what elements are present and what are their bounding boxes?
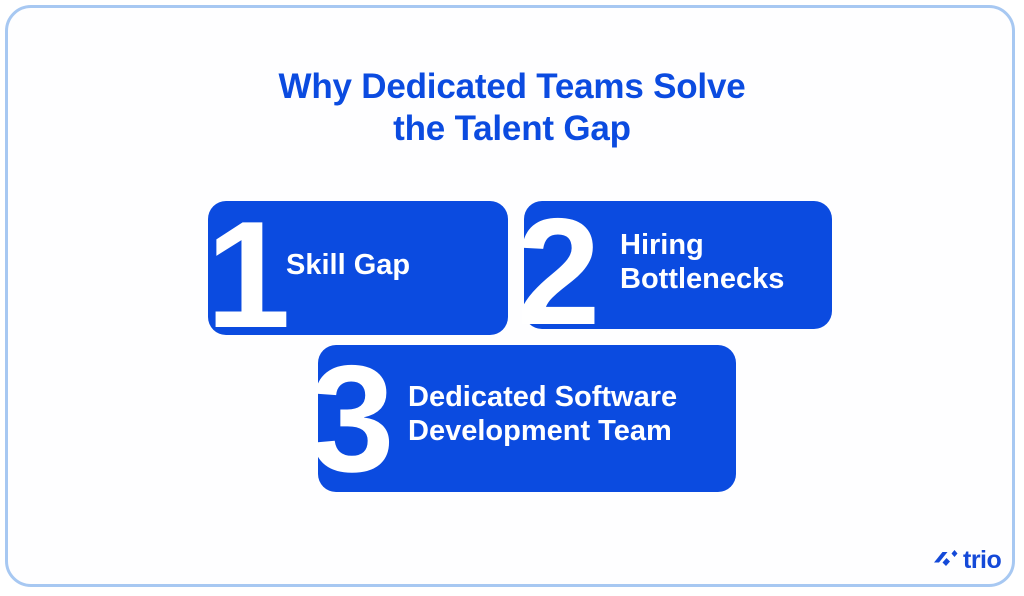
brand-logo[interactable]: trio (933, 546, 1001, 574)
card-number-2: 2 (516, 196, 597, 348)
trio-diamond-icon (933, 549, 959, 571)
page-title-line-2: the Talent Gap (0, 108, 1024, 150)
page-title-line-1: Why Dedicated Teams Solve (0, 66, 1024, 108)
logo-wordmark: trio (963, 548, 1001, 573)
infographic-canvas: Why Dedicated Teams Solve the Talent Gap… (0, 0, 1024, 596)
card-number-3: 3 (310, 343, 391, 495)
card-number-1: 1 (206, 199, 287, 351)
card-label-3: Dedicated Software Development Team (408, 381, 677, 448)
card-label-2: Hiring Bottlenecks (620, 229, 784, 296)
card-label-1: Skill Gap (286, 249, 410, 283)
page-title: Why Dedicated Teams Solve the Talent Gap (0, 66, 1024, 150)
